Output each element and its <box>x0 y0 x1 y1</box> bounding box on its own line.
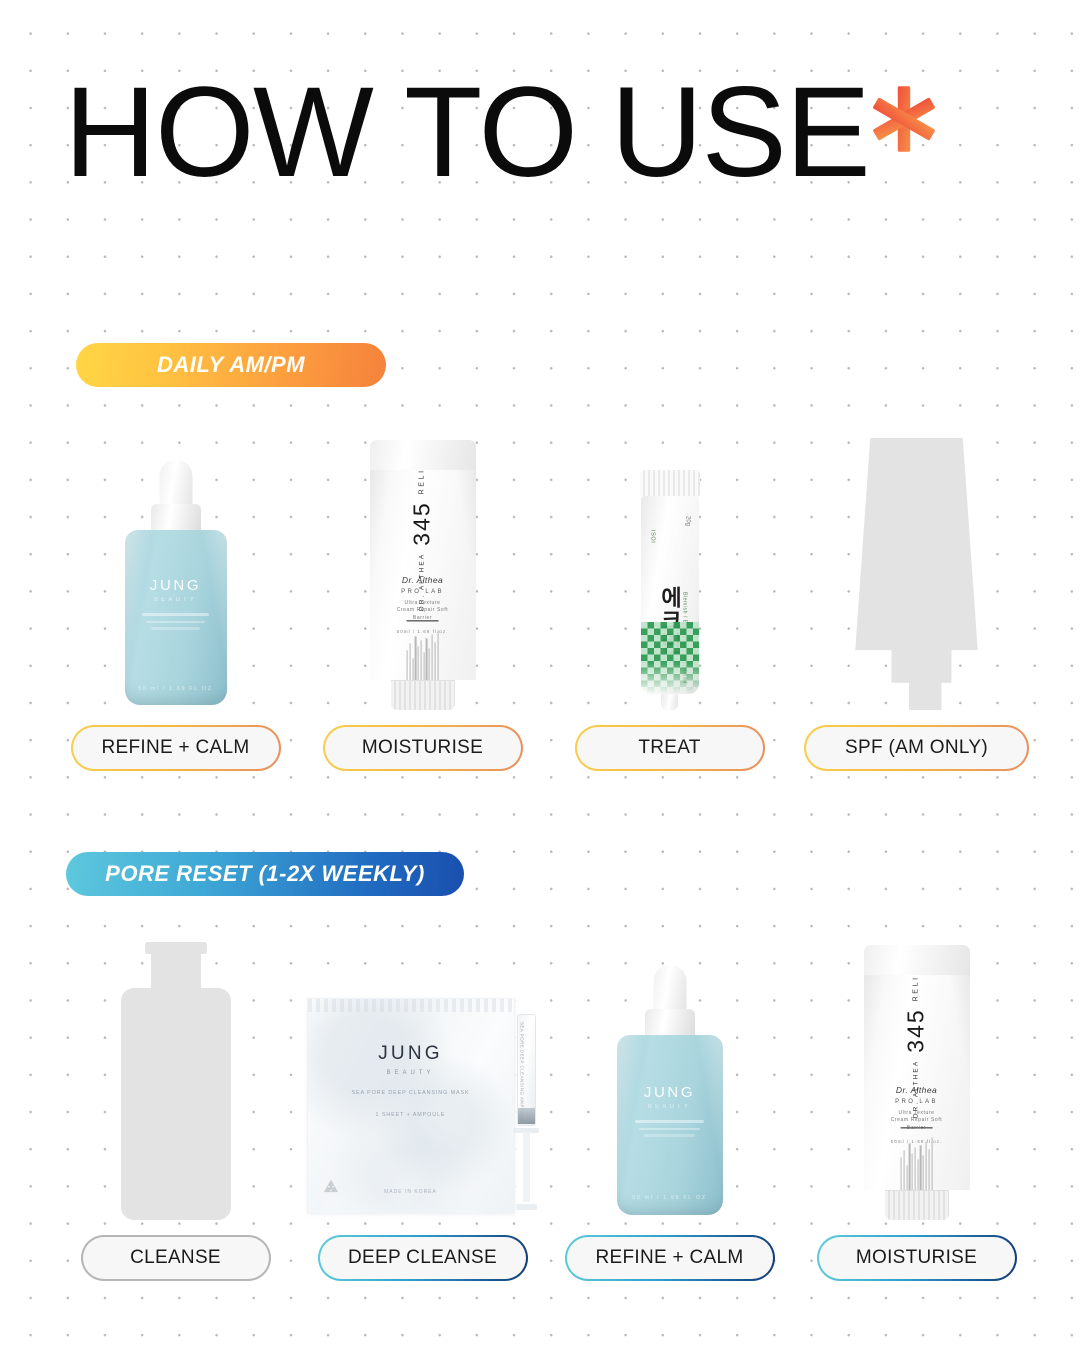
step-label-text: MOISTURISE <box>325 727 521 769</box>
product-image-jung-serum: JUNG BEAUTY 50 ml / 1.69 FL OZ <box>546 930 793 1220</box>
routine-step-refine-calm[interactable]: JUNG BEAUTY 50 ml / 1.69 FL OZ REFINE + … <box>52 415 299 771</box>
tube-shoulder <box>864 945 970 975</box>
asterisk-icon <box>865 80 943 158</box>
syringe-fill <box>518 1108 535 1124</box>
tube-descriptor: Ultra Texture Cream Repair Soft Barrier <box>396 600 449 623</box>
step-label-text: MOISTURISE <box>819 1237 1015 1279</box>
tube-lab: PRO LAB <box>890 1099 943 1105</box>
serum-bottle: JUNG BEAUTY 50 ml / 1.69 FL OZ <box>111 460 241 710</box>
routine-step-spf[interactable]: SPF (AM ONLY) <box>793 415 1040 771</box>
tube-volume: 50ml / 1.69 fl.oz. <box>890 1139 943 1144</box>
sachet-product-name: SEA PORE DEEP CLEANSING MASK <box>308 1088 514 1098</box>
page-header: HOW TO USE <box>64 72 943 195</box>
serum-brand: JUNG <box>150 577 201 594</box>
serum-bottle-body: JUNG BEAUTY 50 ml / 1.69 FL OZ <box>617 1035 723 1215</box>
syringe-plunger <box>523 1132 530 1202</box>
tube-signature-block: Dr. Althea PRO LAB Ultra Texture Cream R… <box>396 575 449 635</box>
label-line <box>635 1120 705 1123</box>
label-line <box>639 1128 700 1131</box>
tube-number: 345 <box>409 501 436 545</box>
page-title: HOW TO USE <box>64 72 869 195</box>
step-label-pill[interactable]: MOISTURISE <box>323 725 523 771</box>
serum-brand-sub: BEAUTY <box>154 597 197 603</box>
serum-brand-sub: BEAUTY <box>648 1104 691 1110</box>
product-image-althea-cream: DR. ALTHEA 345 RELIEF CREAM Dr. Althea P… <box>299 415 546 710</box>
label-line <box>142 613 209 616</box>
routine-step-deep-cleanse[interactable]: JUNG BEAUTY SEA PORE DEEP CLEANSING MASK… <box>299 930 546 1281</box>
step-label-pill[interactable]: TREAT <box>575 725 765 771</box>
product-image-spf-placeholder <box>793 415 1040 710</box>
step-label-text: SPF (AM ONLY) <box>806 727 1027 769</box>
sachet-serrated-edge <box>308 999 514 1012</box>
step-label-text: REFINE + CALM <box>567 1237 773 1279</box>
step-label-pill[interactable]: MOISTURISE <box>817 1235 1017 1281</box>
daily-routine-row: JUNG BEAUTY 50 ml / 1.69 FL OZ REFINE + … <box>0 415 1080 771</box>
serum-bottle: JUNG BEAUTY 50 ml / 1.69 FL OZ <box>603 965 737 1220</box>
product-image-althea-cream: DR. ALTHEA 345 RELIEF CREAM Dr. Althea P… <box>793 930 1040 1220</box>
cream-tube: DR. ALTHEA 345 RELIEF CREAM Dr. Althea P… <box>369 440 477 710</box>
step-label-text: TREAT <box>577 727 763 769</box>
tube-net-weight: 20g <box>685 516 691 526</box>
routine-step-treat[interactable]: ISOI 20g 에크린 Blemish / Blackhead / White… <box>546 415 793 771</box>
tube-signature: Dr. Althea <box>396 575 449 585</box>
tube-body: ISOI 20g 에크린 Blemish / Blackhead / White… <box>641 496 699 694</box>
serum-volume: 50 ml / 1.69 FL OZ <box>138 686 212 692</box>
pore-reset-routine-row: CLEANSE JUNG BEAUTY SEA PORE DEEP CLEANS… <box>0 930 1080 1281</box>
placeholder-tube-silhouette <box>854 438 979 710</box>
section-badge-pore-reset: PORE RESET (1-2X WEEKLY) <box>66 852 464 896</box>
placeholder-bottle-silhouette <box>121 942 231 1220</box>
label-line <box>151 627 200 630</box>
tube-crimp <box>640 470 700 496</box>
tube-signature: Dr. Althea <box>890 1085 943 1095</box>
routine-step-moisturise-weekly[interactable]: DR. ALTHEA 345 RELIEF CREAM Dr. Althea P… <box>793 930 1040 1281</box>
tube-barrel: DR. ALTHEA 345 RELIEF CREAM Dr. Althea P… <box>864 975 970 1190</box>
tube-volume: 50ml / 1.69 fl.oz. <box>396 629 449 634</box>
syringe-label: SEA PORE DEEP CLEANSING AMPOULE <box>520 1022 525 1122</box>
serum-bottle-body: JUNG BEAUTY 50 ml / 1.69 FL OZ <box>125 530 227 705</box>
checker-pattern <box>641 622 699 694</box>
tube-cap <box>391 680 455 710</box>
spot-treatment-tube: ISOI 20g 에크린 Blemish / Blackhead / White… <box>639 470 701 710</box>
tube-label: DR. ALTHEA 345 RELIEF CREAM <box>901 975 933 1190</box>
section-badge-daily: DAILY AM/PM <box>76 343 386 387</box>
step-label-text: REFINE + CALM <box>73 727 279 769</box>
tube-barrel: DR. ALTHEA 345 RELIEF CREAM Dr. Althea P… <box>370 470 476 680</box>
routine-step-moisturise[interactable]: DR. ALTHEA 345 RELIEF CREAM Dr. Althea P… <box>299 415 546 771</box>
ingredient-lines <box>407 630 439 680</box>
tube-number: 345 <box>903 1008 930 1052</box>
step-label-pill[interactable]: REFINE + CALM <box>71 725 281 771</box>
product-image-mask-sachet: JUNG BEAUTY SEA PORE DEEP CLEANSING MASK… <box>299 930 546 1220</box>
section-badge-daily-label: DAILY AM/PM <box>157 352 305 378</box>
label-line <box>644 1134 695 1137</box>
step-label-pill[interactable]: REFINE + CALM <box>565 1235 775 1281</box>
recycle-icon <box>320 1177 342 1199</box>
tube-brand: ISOI <box>650 530 656 543</box>
ampoule-syringe: SEA PORE DEEP CLEANSING AMPOULE <box>513 1000 539 1218</box>
sachet-brand: JUNG <box>308 1043 514 1065</box>
bottle-body <box>121 988 231 1220</box>
tube-descriptor: Ultra Texture Cream Repair Soft Barrier <box>890 1110 943 1133</box>
section-badge-pore-reset-label: PORE RESET (1-2X WEEKLY) <box>105 861 425 887</box>
serum-brand: JUNG <box>644 1084 695 1101</box>
step-label-text: DEEP CLEANSE <box>320 1237 526 1279</box>
step-label-pill[interactable]: DEEP CLEANSE <box>318 1235 528 1281</box>
sachet-pouch: JUNG BEAUTY SEA PORE DEEP CLEANSING MASK… <box>307 998 515 1214</box>
product-image-spot-treatment: ISOI 20g 에크린 Blemish / Blackhead / White… <box>546 415 793 710</box>
step-label-text: CLEANSE <box>83 1237 269 1279</box>
product-image-cleanser-placeholder <box>52 930 299 1220</box>
sachet-made-in: MADE IN KOREA <box>308 1189 514 1195</box>
syringe-thumb-rest <box>516 1204 537 1210</box>
tube-product-name: RELIEF CREAM <box>913 975 920 1001</box>
tube-signature-block: Dr. Althea PRO LAB Ultra Texture Cream R… <box>890 1085 943 1145</box>
step-label-pill[interactable]: SPF (AM ONLY) <box>804 725 1029 771</box>
tube-cap <box>885 1190 949 1220</box>
step-label-pill[interactable]: CLEANSE <box>81 1235 271 1281</box>
mask-sachet: JUNG BEAUTY SEA PORE DEEP CLEANSING MASK… <box>307 998 539 1220</box>
label-line <box>146 621 205 624</box>
ingredient-lines <box>901 1137 933 1190</box>
sachet-text-block: JUNG BEAUTY SEA PORE DEEP CLEANSING MASK… <box>308 1043 514 1121</box>
serum-volume: 50 ml / 1.69 FL OZ <box>632 1195 706 1201</box>
routine-step-refine-calm-weekly[interactable]: JUNG BEAUTY 50 ml / 1.69 FL OZ REFINE + … <box>546 930 793 1281</box>
tube-lab: PRO LAB <box>396 589 449 595</box>
sachet-brand-sub: BEAUTY <box>308 1070 514 1076</box>
product-image-jung-serum: JUNG BEAUTY 50 ml / 1.69 FL OZ <box>52 415 299 710</box>
cream-tube: DR. ALTHEA 345 RELIEF CREAM Dr. Althea P… <box>863 945 971 1220</box>
routine-step-cleanse[interactable]: CLEANSE <box>52 930 299 1281</box>
tube-shoulder <box>370 440 476 470</box>
tube-product-name: RELIEF CREAM <box>419 470 426 494</box>
sachet-sub-note: 1 SHEET + AMPOULE <box>308 1110 514 1120</box>
tube-nozzle <box>661 694 678 710</box>
